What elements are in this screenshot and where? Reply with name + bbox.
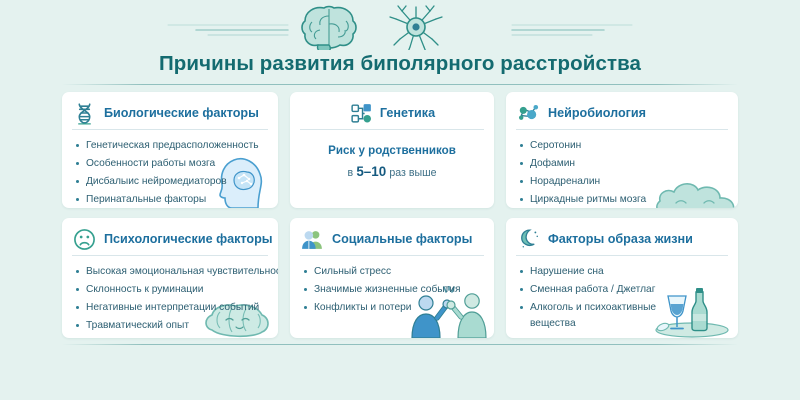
card-header: Психологические факторы bbox=[62, 218, 278, 254]
card-bullet-list: Серотонин Дофамин Норадреналин Циркадные… bbox=[506, 138, 738, 208]
card-bullet-list: Высокая эмоциональная чувствительность С… bbox=[62, 264, 278, 334]
list-item: Особенности работы мозга bbox=[76, 156, 268, 172]
card-lifestyle[interactable]: Факторы образа жизни Нар bbox=[506, 218, 738, 338]
crescent-moon-icon bbox=[516, 227, 541, 252]
stat-line-2: в 5–10 раз выше bbox=[290, 161, 494, 183]
header-separator bbox=[300, 129, 484, 130]
card-title: Генетика bbox=[380, 107, 435, 120]
family-tree-icon bbox=[349, 101, 374, 126]
stat-suffix: раз выше bbox=[389, 167, 436, 179]
sad-face-icon bbox=[72, 227, 97, 252]
dna-icon bbox=[72, 101, 97, 126]
card-biological[interactable]: Биологические факторы Генетическая предр… bbox=[62, 92, 278, 208]
list-item: Алкоголь и психоактивные вещества bbox=[520, 300, 680, 331]
header-separator bbox=[516, 129, 728, 130]
card-header: Генетика bbox=[290, 92, 494, 128]
list-item: Значимые жизненные события bbox=[304, 282, 484, 298]
header-separator bbox=[72, 255, 268, 256]
list-item: Норадреналин bbox=[520, 174, 728, 190]
genetics-stat: Риск у родственников в 5–10 раз выше bbox=[290, 142, 494, 182]
molecule-icon bbox=[516, 101, 541, 126]
card-psychological[interactable]: Психологические факторы Высокая эмо bbox=[62, 218, 278, 338]
list-item: Конфликты и потери bbox=[304, 300, 484, 316]
header-separator bbox=[300, 255, 484, 256]
divider-top bbox=[62, 84, 738, 85]
list-item: Циркадные ритмы мозга bbox=[520, 192, 728, 208]
card-bullet-list: Нарушение сна Сменная работа / Джетлаг А… bbox=[506, 264, 738, 331]
infographic-root: Причины развития биполярного расстройств… bbox=[0, 0, 800, 400]
brain-icon bbox=[302, 7, 356, 51]
card-title: Психологические факторы bbox=[104, 233, 273, 246]
card-header: Факторы образа жизни bbox=[506, 218, 738, 254]
header: Причины развития биполярного расстройств… bbox=[0, 0, 800, 86]
card-title: Социальные факторы bbox=[332, 233, 472, 246]
list-item: Перинатальные факторы bbox=[76, 192, 268, 208]
card-title: Факторы образа жизни bbox=[548, 233, 693, 246]
card-header: Нейробиология bbox=[506, 92, 738, 128]
neuron-icon bbox=[390, 6, 442, 50]
header-separator bbox=[72, 129, 268, 130]
card-bullet-list: Генетическая предрасположенность Особенн… bbox=[62, 138, 278, 208]
page-title: Причины развития биполярного расстройств… bbox=[0, 52, 800, 76]
list-item: Генетическая предрасположенность bbox=[76, 138, 268, 154]
list-item: Нарушение сна bbox=[520, 264, 728, 280]
card-neurobiology[interactable]: Нейробиология Серотонин Дофамин Норадрен… bbox=[506, 92, 738, 208]
cards-grid: Биологические факторы Генетическая предр… bbox=[62, 92, 738, 338]
list-item: Серотонин bbox=[520, 138, 728, 154]
card-header: Биологические факторы bbox=[62, 92, 278, 128]
card-genetics[interactable]: Генетика Риск у родственников в 5–10 раз… bbox=[290, 92, 494, 208]
header-artwork bbox=[0, 2, 800, 50]
card-social[interactable]: Социальные факторы bbox=[290, 218, 494, 338]
list-item: Травматический опыт bbox=[76, 318, 268, 334]
stat-value: 5–10 bbox=[356, 164, 386, 179]
card-title: Нейробиология bbox=[548, 107, 646, 120]
card-bullet-list: Сильный стресс Значимые жизненные событи… bbox=[290, 264, 494, 316]
list-item: Дисбалыис нейромедиаторов bbox=[76, 174, 268, 190]
list-item: Высокая эмоциональная чувствительность bbox=[76, 264, 268, 280]
list-item: Сменная работа / Джетлаг bbox=[520, 282, 728, 298]
stat-line-1: Риск у родственников bbox=[290, 142, 494, 161]
card-title: Биологические факторы bbox=[104, 107, 259, 120]
list-item: Сильный стресс bbox=[304, 264, 484, 280]
list-item: Склонность к руминации bbox=[76, 282, 268, 298]
divider-bottom bbox=[62, 344, 738, 345]
list-item: Дофамин bbox=[520, 156, 728, 172]
header-separator bbox=[516, 255, 728, 256]
two-people-icon bbox=[300, 227, 325, 252]
card-header: Социальные факторы bbox=[290, 218, 494, 254]
list-item: Негативные интерпретации событий bbox=[76, 300, 268, 316]
stat-prefix: в bbox=[347, 167, 353, 179]
